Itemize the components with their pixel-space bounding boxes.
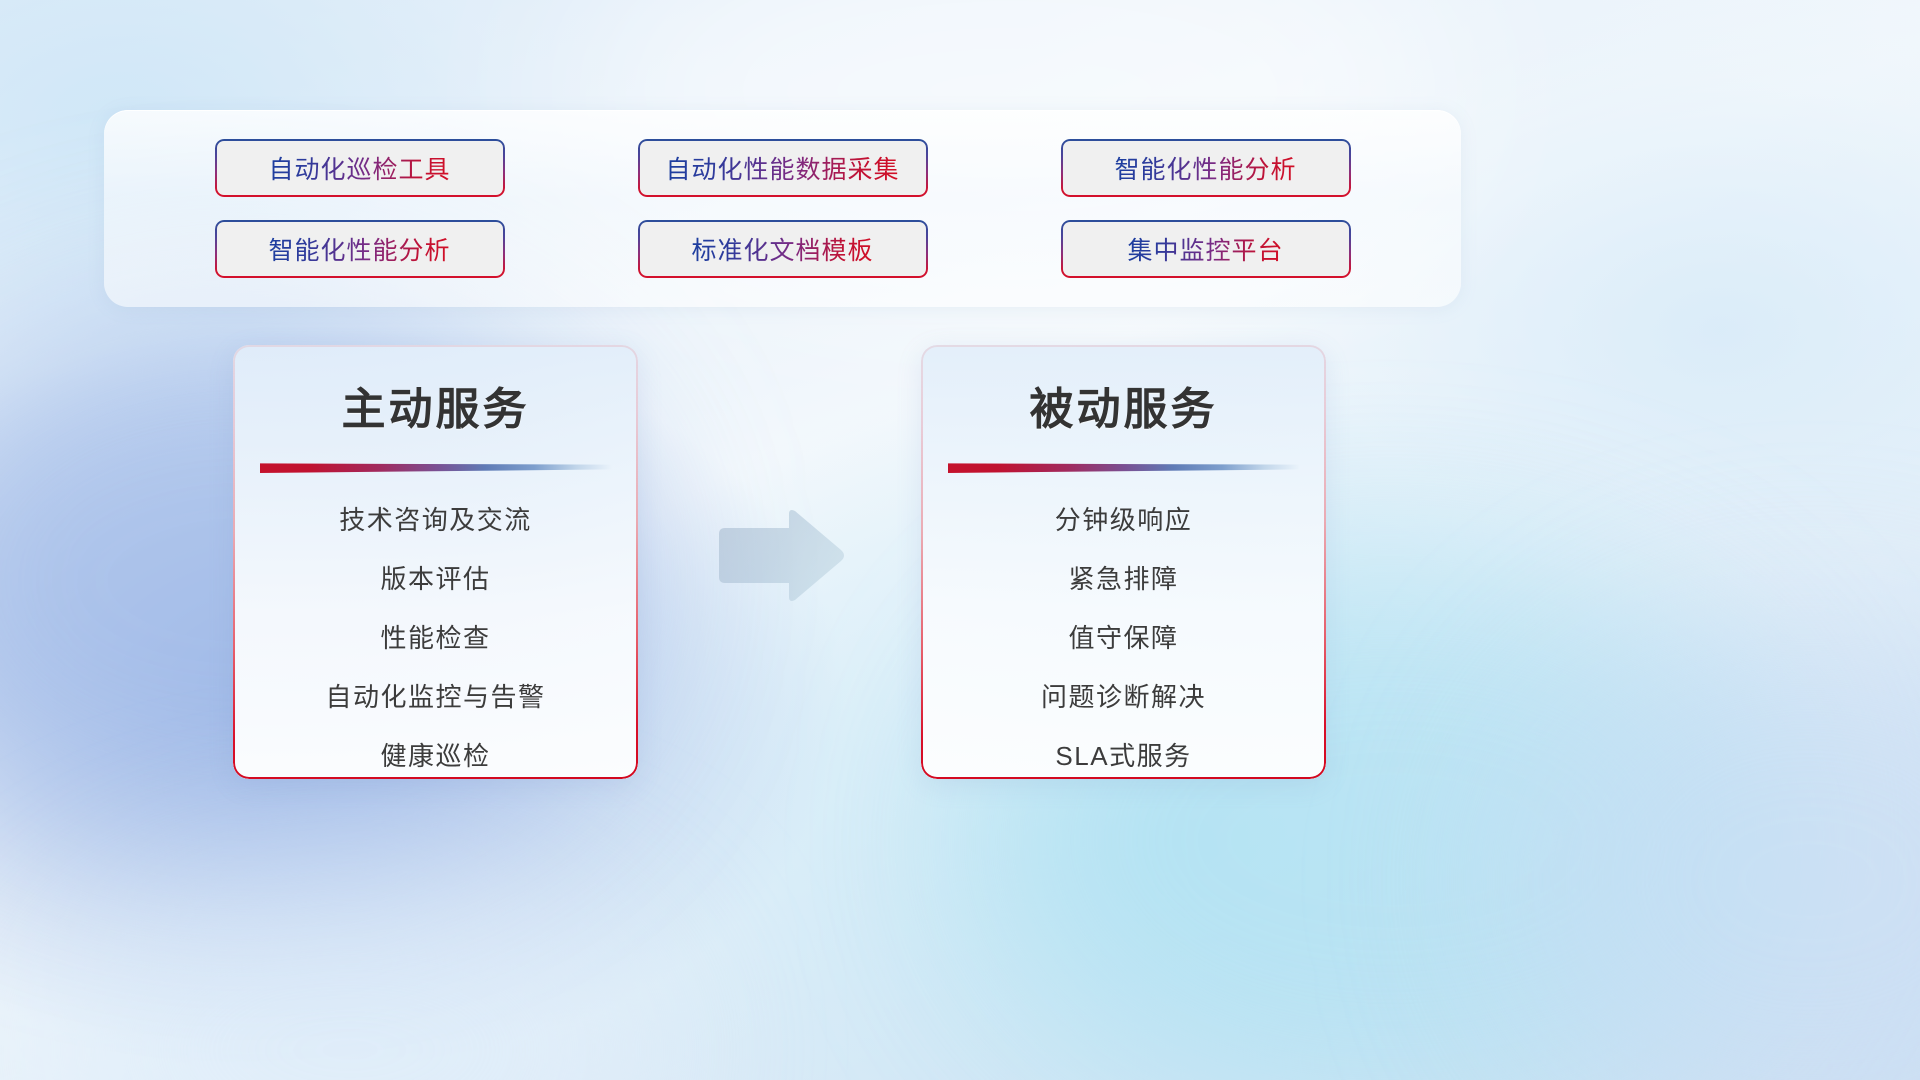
background-blob-right [1500,620,1920,1080]
capability-tag-label: 自动化性能数据采集 [665,150,899,186]
service-card-title: 被动服务 [921,345,1326,437]
title-divider [948,461,1300,473]
capability-tag[interactable]: 自动化巡检工具 [215,139,505,197]
capability-tag[interactable]: 集中监控平台 [1061,220,1351,278]
service-item: 版本评估 [233,566,638,592]
service-card-proactive[interactable]: 主动服务 技术咨询及交流 版本评估 性能检查 自动化监控与告警 健康巡检 [233,345,638,779]
capability-tag[interactable]: 自动化性能数据采集 [638,139,928,197]
capability-tag[interactable]: 标准化文档模板 [638,220,928,278]
service-item: 值守保障 [921,625,1326,651]
capability-tag-label: 智能化性能分析 [268,231,450,267]
service-item: 自动化监控与告警 [233,684,638,710]
service-item: SLA式服务 [921,743,1326,769]
arrow-right-icon [713,508,847,603]
title-divider-bar [948,461,1300,473]
service-item: 健康巡检 [233,743,638,769]
service-item: 问题诊断解决 [921,684,1326,710]
slide-canvas: 自动化巡检工具 自动化性能数据采集 智能化性能分析 智能化性能分析 标准化文档模… [0,0,1920,1080]
capability-tags-panel: 自动化巡检工具 自动化性能数据采集 智能化性能分析 智能化性能分析 标准化文档模… [104,110,1461,307]
service-item: 紧急排障 [921,566,1326,592]
title-divider [260,461,612,473]
capability-tag[interactable]: 智能化性能分析 [215,220,505,278]
background-blob-bottom [40,880,660,1080]
service-card-reactive[interactable]: 被动服务 分钟级响应 紧急排障 值守保障 问题诊断解决 SLA式服务 [921,345,1326,779]
capability-tag-label: 智能化性能分析 [1114,150,1296,186]
service-card-title: 主动服务 [233,345,638,437]
service-item: 技术咨询及交流 [233,507,638,533]
service-item: 分钟级响应 [921,507,1326,533]
service-item-list: 分钟级响应 紧急排障 值守保障 问题诊断解决 SLA式服务 [921,473,1326,769]
service-item-list: 技术咨询及交流 版本评估 性能检查 自动化监控与告警 健康巡检 [233,473,638,769]
capability-tag[interactable]: 智能化性能分析 [1061,139,1351,197]
service-item: 性能检查 [233,625,638,651]
title-divider-bar [260,461,612,473]
capability-tag-label: 标准化文档模板 [691,231,873,267]
capability-tag-label: 集中监控平台 [1127,231,1283,267]
capability-tag-label: 自动化巡检工具 [268,150,450,186]
